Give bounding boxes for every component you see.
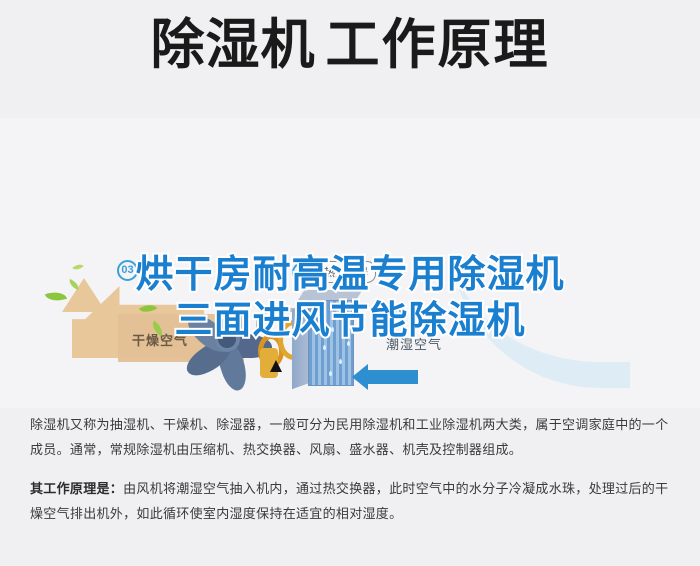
description-paragraph-1: 除湿机又称为抽湿机、干燥机、除湿器，一般可分为民用除湿机和工业除湿机两大类，属于… xyxy=(30,412,670,463)
fan-hub-icon xyxy=(214,326,240,352)
description-paragraph-2-text: 由风机将潮湿空气抽入机内，通过热交换器，此时空气中的水分子冷凝成水珠，处理过后的… xyxy=(30,481,668,521)
title-secondary: 工作原理 xyxy=(326,18,550,72)
leaf-icon xyxy=(72,261,84,272)
humid-air-arc-secondary-icon xyxy=(450,238,630,388)
water-droplet-icon xyxy=(329,371,332,376)
description-block: 除湿机又称为抽湿机、干燥机、除湿器，一般可分为民用除湿机和工业除湿机两大类，属于… xyxy=(0,412,700,526)
badge-02: 02 xyxy=(292,262,313,283)
humid-air-inflow-arrow-icon xyxy=(366,370,418,384)
description-paragraph-2-lead: 其工作原理是： xyxy=(30,481,123,496)
heat-exchanger-fins-icon xyxy=(308,300,354,386)
water-droplet-icon xyxy=(343,317,346,322)
flow-arrow-up-icon xyxy=(270,360,282,372)
water-droplet-icon xyxy=(331,327,334,332)
badge-03: 03 xyxy=(117,260,138,281)
humid-air-label: 潮湿空气 xyxy=(386,334,442,353)
water-droplet-icon xyxy=(317,313,320,318)
description-paragraph-2: 其工作原理是：由风机将潮湿空气抽入机内，通过热交换器，此时空气中的水分子冷凝成水… xyxy=(30,476,670,527)
title-primary: 除湿机 xyxy=(151,18,316,72)
page-title: 除湿机工作原理 xyxy=(0,18,700,72)
water-droplet-icon xyxy=(323,345,326,350)
callout-tail-icon xyxy=(338,275,350,289)
page-root: 除湿机工作原理 干燥空气 xyxy=(0,0,700,566)
badge-01: 01 xyxy=(382,306,403,327)
dehumidifier-diagram: 干燥空气 xyxy=(0,118,700,408)
water-droplet-icon xyxy=(339,359,342,364)
water-droplet-icon xyxy=(347,341,350,346)
humid-air-inflow-arrow-head-icon xyxy=(352,364,368,390)
